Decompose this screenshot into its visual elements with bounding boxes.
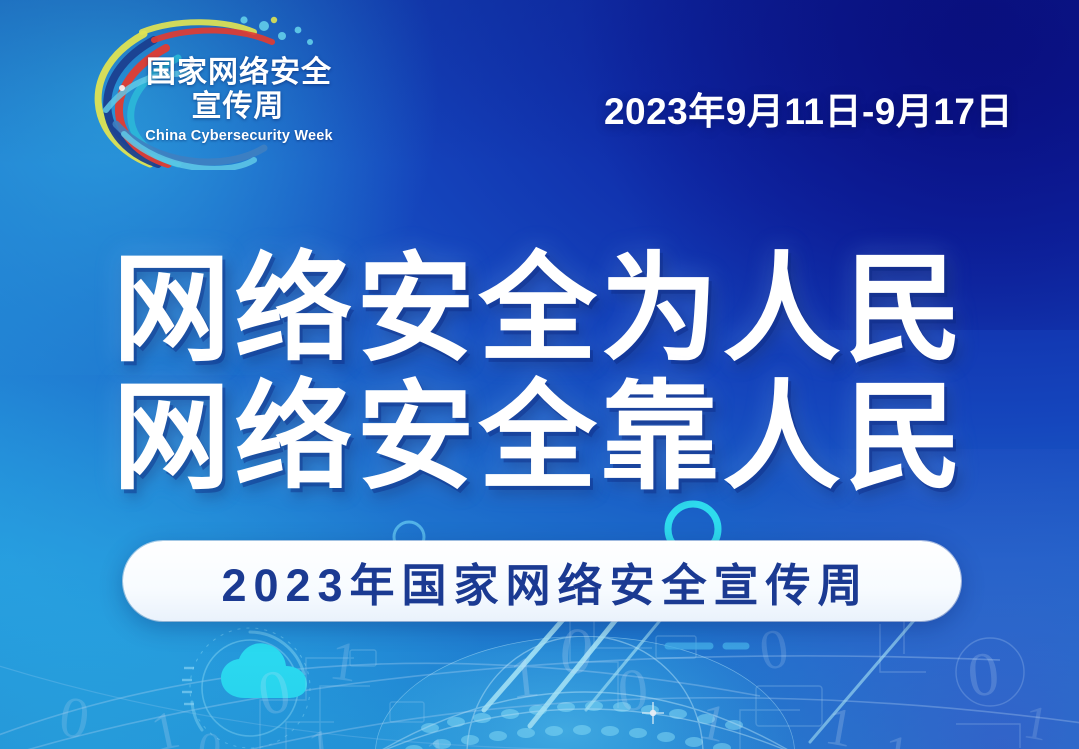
headline-line-1: 网络安全为人民 — [0, 246, 1079, 374]
event-date: 2023年9月11日-9月17日 — [604, 81, 1013, 135]
china-cybersecurity-week-logo[interactable]: 国家网络安全 宣传周 China Cybersecurity Week — [58, 14, 358, 170]
event-name-pill: 2023年国家网络安全宣传周 — [123, 541, 961, 621]
logo-title-line2: 宣传周 — [122, 90, 354, 124]
logo-text-group: 国家网络安全 宣传周 China Cybersecurity Week — [124, 56, 354, 146]
logo-title-line1: 国家网络安全 — [124, 56, 354, 90]
headline-block: 网络安全为人民 网络安全靠人民 — [0, 246, 1079, 502]
logo-english-title: China Cybersecurity Week — [124, 126, 354, 146]
event-name-text: 2023年国家网络安全宣传周 — [214, 549, 869, 614]
headline-line-2: 网络安全靠人民 — [0, 374, 1079, 502]
poster-root: 0 1 1 0 0 1 0 1 1 0 1 1 0 1 0 1 — [0, 0, 1079, 749]
